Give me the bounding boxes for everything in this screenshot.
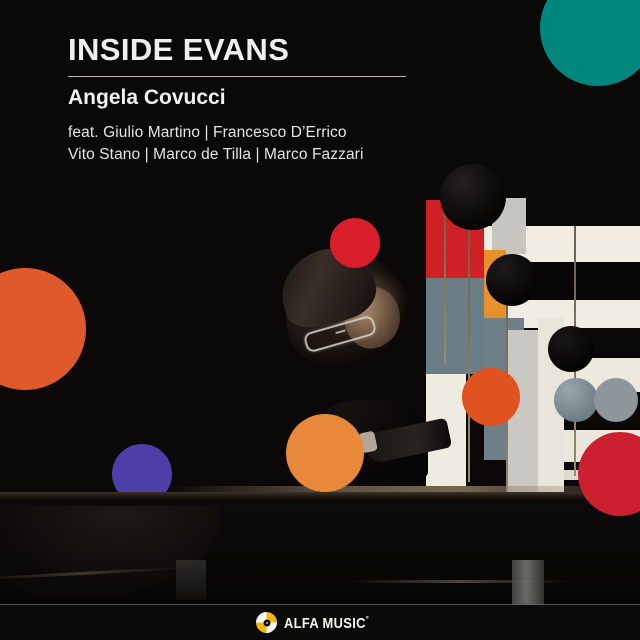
piano-lid-sheen [170, 486, 640, 492]
featuring-line-2: Vito Stano | Marco de Tilla | Marco Fazz… [68, 144, 448, 166]
gray-blue-block [426, 278, 484, 374]
hanging-rod-4 [444, 198, 446, 364]
bench [176, 560, 206, 600]
featuring-line-1: feat. Giulio Martino | Francesco D’Erric… [68, 122, 448, 144]
album-cover: INSIDE EVANS Angela Covucci feat. Giulio… [0, 0, 640, 640]
label-trademark: ° [366, 614, 369, 624]
red-circle-head [330, 218, 380, 268]
orange-circle-center [286, 414, 364, 492]
label-name-text: ALFA MUSIC [284, 615, 366, 632]
orange-circle-left [0, 268, 86, 390]
artist-name: Angela Covucci [68, 86, 448, 109]
black-sphere-upper [440, 164, 506, 230]
piano-leg [512, 560, 544, 606]
teal-circle [540, 0, 640, 86]
gray-blue-sphere [554, 378, 598, 422]
gray-circle-right [594, 378, 638, 422]
label-footer: ALFA MUSIC° [0, 605, 640, 640]
title-block: INSIDE EVANS Angela Covucci feat. Giulio… [68, 34, 448, 166]
hanging-rod-1 [468, 226, 470, 482]
vinyl-disc-icon [256, 612, 277, 633]
black-sphere-lower [548, 326, 594, 372]
black-sphere-middle [486, 254, 538, 306]
album-title: INSIDE EVANS [68, 34, 448, 67]
title-divider [68, 76, 406, 77]
orange-sphere-panel [462, 368, 520, 426]
label-name: ALFA MUSIC° [284, 614, 369, 632]
